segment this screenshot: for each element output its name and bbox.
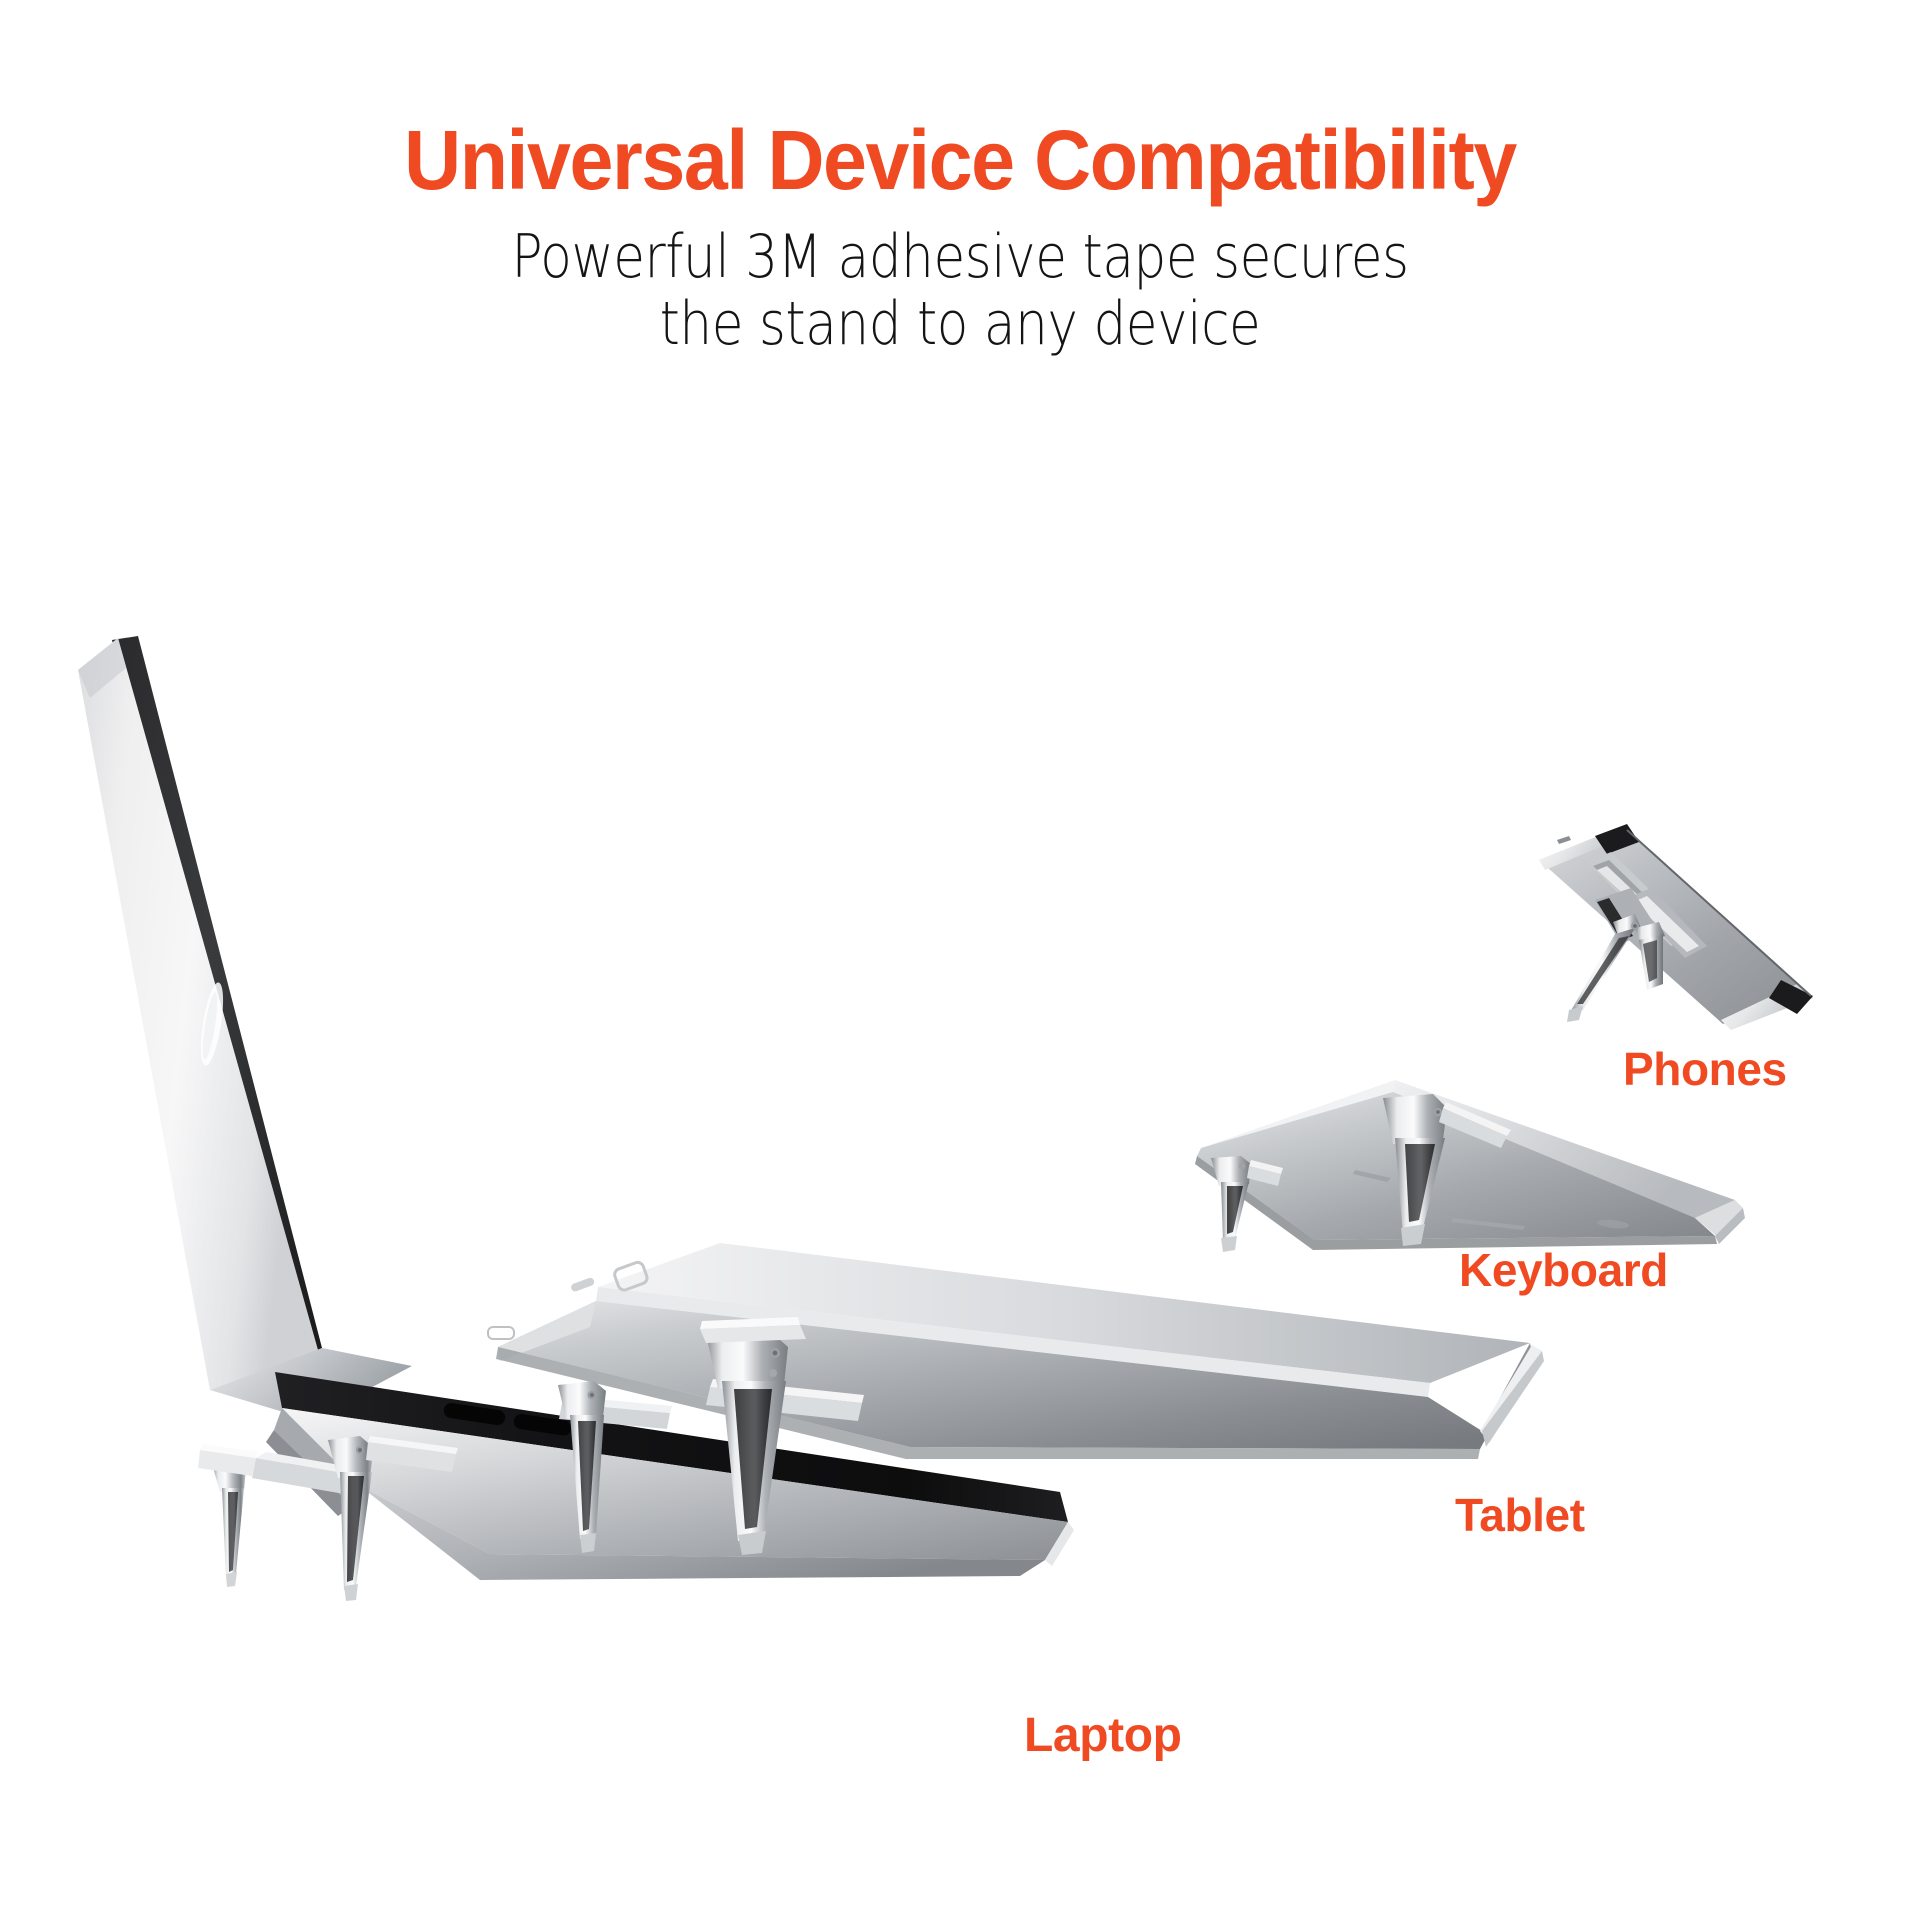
product-label-phones: Phones	[1623, 1046, 1787, 1092]
product-label-laptop: Laptop	[1024, 1712, 1182, 1760]
header-block: Universal Device Compatibility Powerful …	[0, 0, 1920, 358]
product-label-keyboard: Keyboard	[1459, 1247, 1668, 1293]
phone-with-stand-render	[1535, 818, 1835, 1048]
product-feature-graphic: Universal Device Compatibility Powerful …	[0, 0, 1920, 1920]
subtitle-line-2: the stand to any device	[134, 291, 1785, 358]
page-title: Universal Device Compatibility	[58, 0, 1863, 202]
page-subtitle: Powerful 3M adhesive tape secures the st…	[134, 202, 1785, 358]
laptop-with-stand-render	[60, 630, 1360, 1730]
subtitle-line-1: Powerful 3M adhesive tape secures	[134, 224, 1785, 291]
product-label-tablet: Tablet	[1455, 1492, 1585, 1538]
